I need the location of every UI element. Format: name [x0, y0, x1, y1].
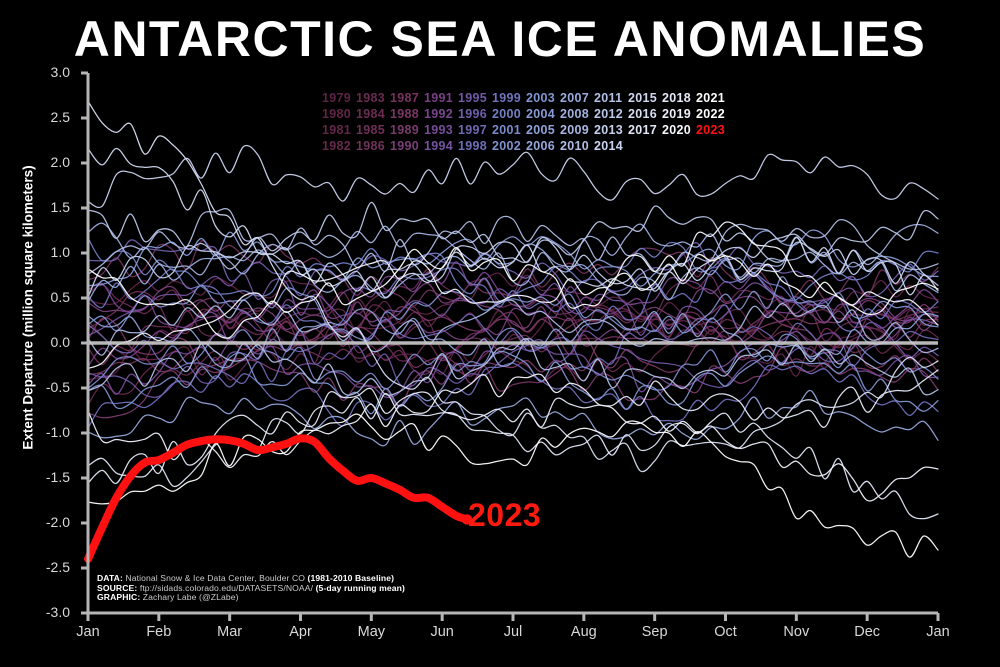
legend-year-2014[interactable]: 2014	[594, 138, 624, 154]
legend-year-1981[interactable]: 1981	[322, 122, 352, 138]
x-tick-label: Feb	[129, 624, 189, 640]
x-tick-label: Mar	[200, 624, 260, 640]
legend-year-2009[interactable]: 2009	[560, 122, 590, 138]
legend-row: 198219861990199419982002200620102014	[322, 138, 702, 154]
legend-year-2001[interactable]: 2001	[492, 122, 522, 138]
legend-year-2006[interactable]: 2006	[526, 138, 556, 154]
x-tick-label: Jun	[412, 624, 472, 640]
highlight-annotation-2023: 2023	[468, 497, 541, 534]
series-line-2015	[88, 148, 938, 297]
legend-year-1979[interactable]: 1979	[322, 90, 352, 106]
legend-year-2000[interactable]: 2000	[492, 106, 522, 122]
legend-row: 1979198319871991199519992003200720112015…	[322, 90, 702, 106]
legend-year-1997[interactable]: 1997	[458, 122, 488, 138]
legend-year-1995[interactable]: 1995	[458, 90, 488, 106]
credit-source-text: ftp://sidads.colorado.edu/DATASETS/NOAA/	[137, 583, 315, 593]
legend-year-2018[interactable]: 2018	[662, 90, 692, 106]
x-tick-label: Jul	[483, 624, 543, 640]
legend-year-2011[interactable]: 2011	[594, 90, 624, 106]
spaghetti-lines-group	[88, 101, 938, 557]
legend-year-1992[interactable]: 1992	[424, 106, 454, 122]
series-line-2014	[88, 145, 938, 207]
highlight-line-2023	[88, 438, 467, 559]
x-tick-label: Jan	[58, 624, 118, 640]
legend-year-2008[interactable]: 2008	[560, 106, 590, 122]
legend-year-2005[interactable]: 2005	[526, 122, 556, 138]
legend-year-1988[interactable]: 1988	[390, 106, 420, 122]
credit-data-text: National Snow & Ice Data Center, Boulder…	[123, 573, 308, 583]
legend-year-2019[interactable]: 2019	[662, 106, 692, 122]
legend-year-1998[interactable]: 1998	[458, 138, 488, 154]
legend-year-1987[interactable]: 1987	[390, 90, 420, 106]
legend-year-2023[interactable]: 2023	[696, 122, 726, 138]
x-axis-ticks: JanFebMarAprMayJunJulAugSepOctNovDecJan	[0, 624, 1000, 648]
legend-year-2010[interactable]: 2010	[560, 138, 590, 154]
credit-graphic-label: GRAPHIC:	[97, 592, 140, 602]
credit-source-note: (5-day running mean)	[316, 583, 405, 593]
x-tick-label: Aug	[554, 624, 614, 640]
x-tick-label: Sep	[625, 624, 685, 640]
legend-year-2021[interactable]: 2021	[696, 90, 726, 106]
legend-year-2007[interactable]: 2007	[560, 90, 590, 106]
legend-year-2004[interactable]: 2004	[526, 106, 556, 122]
legend-year-1996[interactable]: 1996	[458, 106, 488, 122]
legend-year-1980[interactable]: 1980	[322, 106, 352, 122]
legend-year-2016[interactable]: 2016	[628, 106, 658, 122]
credit-source-label: SOURCE:	[97, 583, 137, 593]
credit-data-label: DATA:	[97, 573, 123, 583]
legend-row: 1981198519891993199720012005200920132017…	[322, 122, 702, 138]
credit-graphic-text: Zachary Labe (@ZLabe)	[140, 592, 238, 602]
legend-year-2002[interactable]: 2002	[492, 138, 522, 154]
legend-row: 1980198419881992199620002004200820122016…	[322, 106, 702, 122]
legend-year-1993[interactable]: 1993	[424, 122, 454, 138]
x-tick-label: May	[341, 624, 401, 640]
legend-year-1986[interactable]: 1986	[356, 138, 386, 154]
credits-block: DATA: National Snow & Ice Data Center, B…	[97, 574, 405, 603]
chart-canvas: ANTARCTIC SEA ICE ANOMALIES 197919831987…	[0, 0, 1000, 667]
credit-data-baseline: (1981-2010 Baseline)	[308, 573, 395, 583]
legend-year-1999[interactable]: 1999	[492, 90, 522, 106]
legend-year-1990[interactable]: 1990	[390, 138, 420, 154]
legend-year-2013[interactable]: 2013	[594, 122, 624, 138]
series-line-2018	[88, 370, 938, 483]
legend-year-1989[interactable]: 1989	[390, 122, 420, 138]
legend-year-1982[interactable]: 1982	[322, 138, 352, 154]
legend-year-1991[interactable]: 1991	[424, 90, 454, 106]
series-line-2013	[88, 234, 938, 297]
legend-year-2012[interactable]: 2012	[594, 106, 624, 122]
x-tick-label: Jan	[908, 624, 968, 640]
legend-year-1983[interactable]: 1983	[356, 90, 386, 106]
legend-year-2020[interactable]: 2020	[662, 122, 692, 138]
y-tick-label: -3.0	[24, 604, 70, 620]
x-tick-label: Nov	[766, 624, 826, 640]
x-tick-label: Dec	[837, 624, 897, 640]
legend-year-2003[interactable]: 2003	[526, 90, 556, 106]
x-tick-label: Apr	[271, 624, 331, 640]
legend-year-1984[interactable]: 1984	[356, 106, 386, 122]
legend-year-1994[interactable]: 1994	[424, 138, 454, 154]
legend-year-2017[interactable]: 2017	[628, 122, 658, 138]
y-axis-label: Extent Departure (million square kilomet…	[21, 48, 36, 568]
credit-graphic-line: GRAPHIC: Zachary Labe (@ZLabe)	[97, 593, 405, 603]
year-legend: 1979198319871991199519992003200720112015…	[322, 90, 702, 154]
legend-year-2015[interactable]: 2015	[628, 90, 658, 106]
series-line-2001	[88, 328, 938, 390]
x-tick-label: Oct	[696, 624, 756, 640]
series-line-2007	[88, 237, 938, 302]
series-line-2010	[88, 209, 938, 275]
legend-year-2022[interactable]: 2022	[696, 106, 726, 122]
legend-year-1985[interactable]: 1985	[356, 122, 386, 138]
